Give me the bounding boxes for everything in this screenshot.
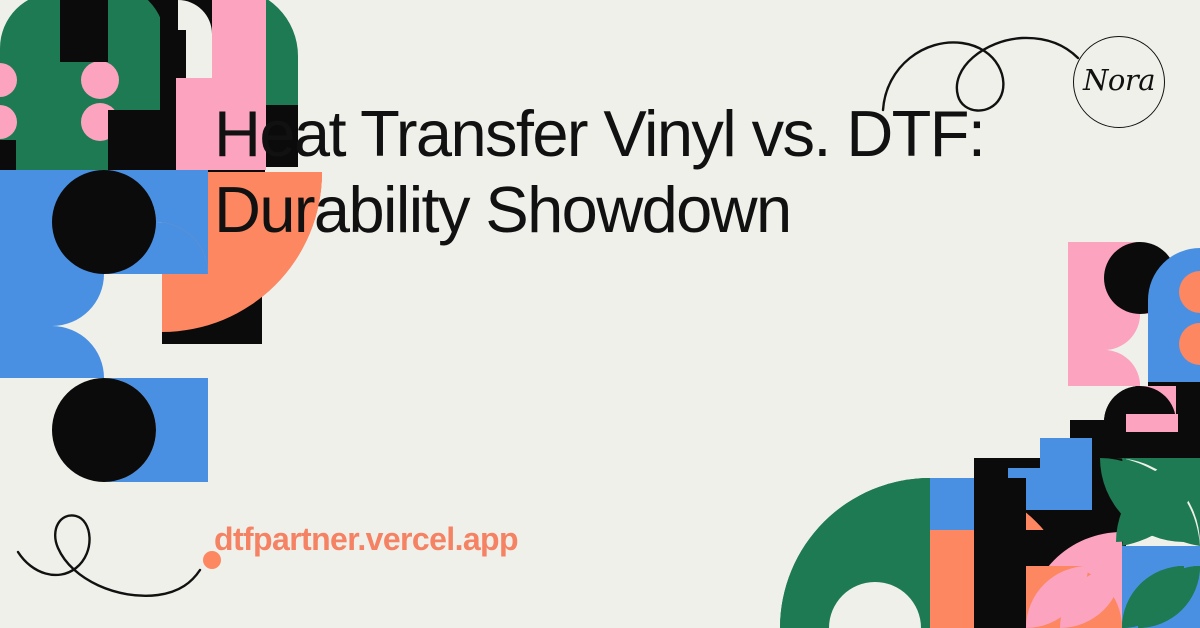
green-arch-with-pink-dots: [0, 0, 165, 202]
pink-block: [1126, 414, 1178, 432]
pink-checker-stars: [1104, 242, 1176, 458]
green-leaf-lens-upper: [1100, 458, 1200, 544]
decoration-blue-star-checkerboard: [0, 0, 1200, 628]
pink-star-cells: [1068, 242, 1200, 458]
decoration-top-left: [0, 0, 1200, 628]
decoration-squiggles: [0, 0, 1200, 628]
blue-checker-cells: [0, 170, 104, 274]
brand-logo[interactable]: Nora: [1073, 36, 1165, 128]
decoration-right-cluster: [0, 0, 1200, 628]
black-staircase-spine: [974, 420, 1200, 628]
green-dome: [162, 0, 298, 110]
blue-star-cells: [0, 170, 208, 482]
decoration-bottom-right: [0, 0, 1200, 628]
loop-squiggle-line: [18, 515, 200, 595]
site-url[interactable]: dtfpartner.vercel.app: [214, 521, 518, 558]
social-share-card: Heat Transfer Vinyl vs. DTF: Durability …: [0, 0, 1200, 628]
brand-name-label: Nora: [1073, 34, 1165, 126]
blue-checker-stars: [52, 170, 156, 482]
blue-staircase: [974, 438, 1092, 510]
text-block: Heat Transfer Vinyl vs. DTF: Durability …: [214, 96, 1074, 248]
page-title: Heat Transfer Vinyl vs. DTF: Durability …: [214, 96, 1074, 248]
blue-arch-with-orange-dots: [1148, 248, 1200, 458]
green-orange-ring-quarter: [780, 478, 1080, 628]
pink-leaf-lens: [1026, 532, 1122, 628]
green-leaf-lens-bottom: [1122, 566, 1200, 628]
